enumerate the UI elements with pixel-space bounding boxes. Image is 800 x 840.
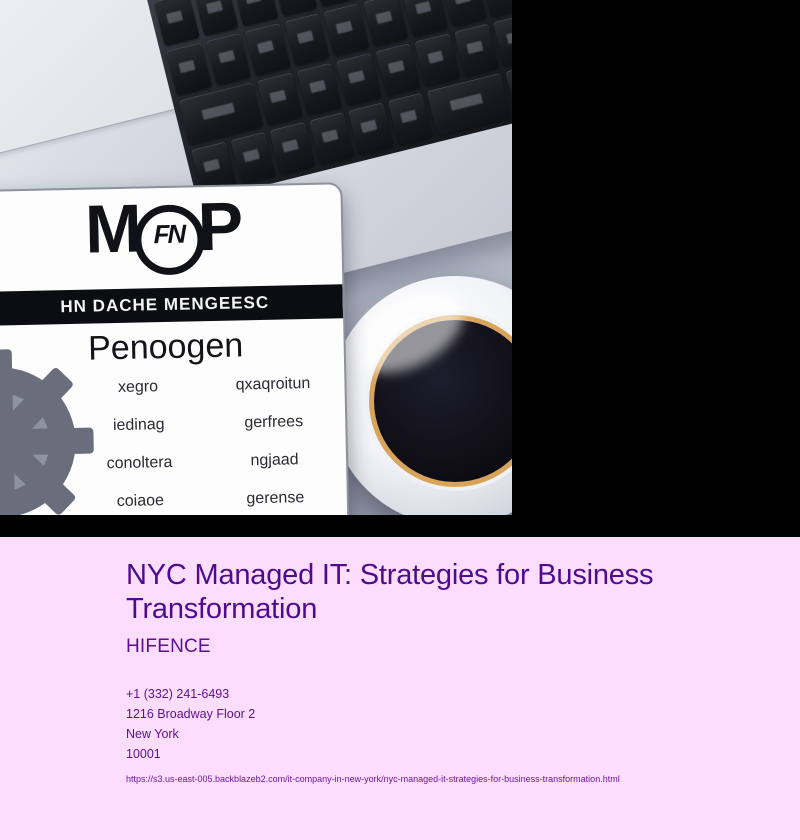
hero-card-strip: HN DACHE MENGEESC	[0, 284, 343, 325]
keyboard-key	[166, 43, 212, 96]
page-title: NYC Managed IT: Strategies for Business …	[126, 559, 738, 626]
hero-card-item: xegro	[76, 377, 199, 398]
hero-card-item: qxaqroitun	[211, 374, 334, 395]
keyboard-key	[363, 0, 409, 47]
hero-card-item: ngjaad	[213, 450, 336, 471]
keyboard-key	[245, 23, 291, 76]
keyboard-key	[324, 3, 370, 56]
hero-card-item: coiaoe	[79, 491, 202, 512]
hero-card-item: iedinag	[77, 415, 200, 436]
hero-card-item: gerfrees	[212, 412, 335, 433]
hero-card: MFNP HN DACHE MENGEESC Penoogen xegro qx…	[0, 182, 350, 515]
keyboard-key	[388, 92, 434, 145]
hero-card-item: gerense	[214, 488, 337, 509]
hero-card-heading: Penoogen	[0, 324, 344, 370]
hero-card-logo-suffix: P	[197, 188, 242, 265]
hero-card-item-grid: xegro qxaqroitun iedinag gerfrees conolt…	[76, 374, 337, 511]
keyboard-key	[375, 43, 421, 96]
hero-band: MFNP HN DACHE MENGEESC Penoogen xegro qx…	[0, 0, 800, 537]
info-content: NYC Managed IT: Strategies for Business …	[126, 559, 760, 786]
keyboard-key	[205, 33, 251, 86]
keyboard-key	[257, 72, 303, 125]
keyboard-key	[442, 0, 488, 27]
brand-name: HIFENCE	[126, 636, 760, 658]
contact-phone: +1 (332) 241-6493	[126, 684, 760, 704]
contact-list: +1 (332) 241-6493 1216 Broadway Floor 2 …	[126, 684, 760, 764]
gear-teeth-icon	[0, 366, 77, 515]
keyboard-key	[232, 0, 278, 27]
hero-card-logo-badge: FN	[133, 204, 204, 275]
info-panel: NYC Managed IT: Strategies for Business …	[0, 537, 800, 840]
keyboard-key	[454, 23, 500, 76]
keyboard-key	[193, 0, 239, 36]
keyboard-key	[348, 102, 394, 155]
keyboard-key	[402, 0, 448, 37]
keyboard-key	[269, 122, 315, 175]
keyboard-key	[309, 112, 355, 165]
hero-image: MFNP HN DACHE MENGEESC Penoogen xegro qx…	[0, 0, 512, 515]
contact-city: New York	[126, 724, 760, 744]
keyboard-key	[230, 132, 276, 185]
keyboard-key	[336, 53, 382, 106]
keyboard-key	[154, 0, 200, 46]
contact-street: 1216 Broadway Floor 2	[126, 704, 760, 724]
keyboard-key	[284, 13, 330, 66]
hero-card-logo: MFNP	[0, 190, 342, 278]
contact-postal-code: 10001	[126, 744, 760, 764]
keyboard-key	[296, 63, 342, 116]
hero-card-logo-prefix: M	[84, 191, 140, 268]
source-url[interactable]: https://s3.us-east-005.backblazeb2.com/i…	[126, 772, 760, 786]
hero-card-item: conoltera	[78, 453, 201, 474]
keyboard-key	[415, 33, 461, 86]
